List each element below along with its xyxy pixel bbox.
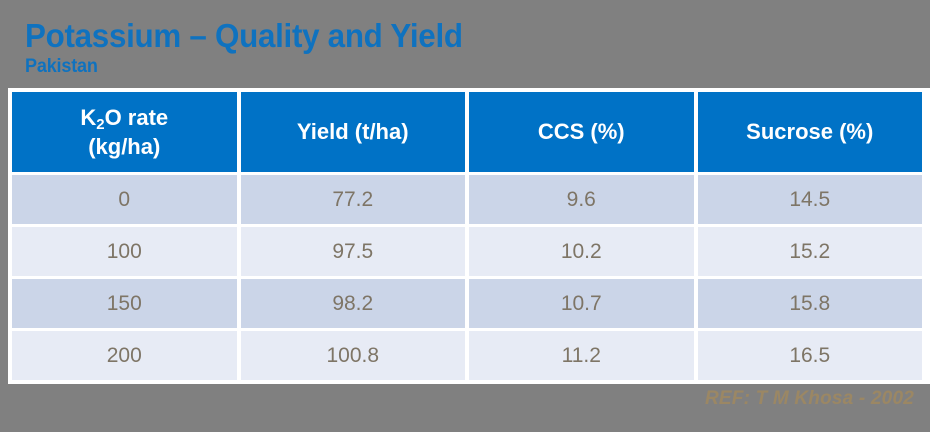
table-header: K2O rate (kg/ha) Yield (t/ha) CCS (%) Su…: [12, 92, 922, 172]
cell-ccs: 11.2: [469, 331, 694, 380]
title-block: Potassium – Quality and Yield Pakistan: [25, 18, 486, 78]
page-title: Potassium – Quality and Yield: [25, 18, 463, 54]
table-row: 150 98.2 10.7 15.8: [12, 279, 922, 328]
cell-k2o-rate: 150: [12, 279, 237, 328]
header-k2o-units: (kg/ha): [88, 134, 160, 159]
page-subtitle: Pakistan: [25, 56, 463, 78]
cell-yield: 97.5: [241, 227, 466, 276]
column-header-k2o-rate: K2O rate (kg/ha): [12, 92, 237, 172]
table-body: 0 77.2 9.6 14.5 100 97.5 10.2 15.2 150 9…: [12, 175, 922, 380]
cell-ccs: 9.6: [469, 175, 694, 224]
cell-k2o-rate: 200: [12, 331, 237, 380]
header-k2o-rest: O rate: [105, 105, 169, 130]
cell-sucrose: 14.5: [698, 175, 923, 224]
cell-ccs: 10.7: [469, 279, 694, 328]
cell-sucrose: 15.8: [698, 279, 923, 328]
table-row: 100 97.5 10.2 15.2: [12, 227, 922, 276]
column-header-ccs: CCS (%): [469, 92, 694, 172]
data-table-container: K2O rate (kg/ha) Yield (t/ha) CCS (%) Su…: [8, 88, 930, 384]
cell-sucrose: 16.5: [698, 331, 923, 380]
cell-ccs: 10.2: [469, 227, 694, 276]
header-k2o-subscript: 2: [96, 116, 104, 133]
cell-k2o-rate: 100: [12, 227, 237, 276]
cell-yield: 77.2: [241, 175, 466, 224]
quality-yield-table: K2O rate (kg/ha) Yield (t/ha) CCS (%) Su…: [8, 89, 926, 383]
table-row: 200 100.8 11.2 16.5: [12, 331, 922, 380]
header-k-letter: K: [80, 105, 96, 130]
cell-k2o-rate: 0: [12, 175, 237, 224]
source-reference: REF: T M Khosa - 2002: [705, 388, 914, 410]
table-header-row: K2O rate (kg/ha) Yield (t/ha) CCS (%) Su…: [12, 92, 922, 172]
cell-yield: 100.8: [241, 331, 466, 380]
slide-canvas: Potassium – Quality and Yield Pakistan K…: [0, 0, 930, 432]
cell-yield: 98.2: [241, 279, 466, 328]
table-row: 0 77.2 9.6 14.5: [12, 175, 922, 224]
column-header-sucrose: Sucrose (%): [698, 92, 923, 172]
cell-sucrose: 15.2: [698, 227, 923, 276]
column-header-yield: Yield (t/ha): [241, 92, 466, 172]
